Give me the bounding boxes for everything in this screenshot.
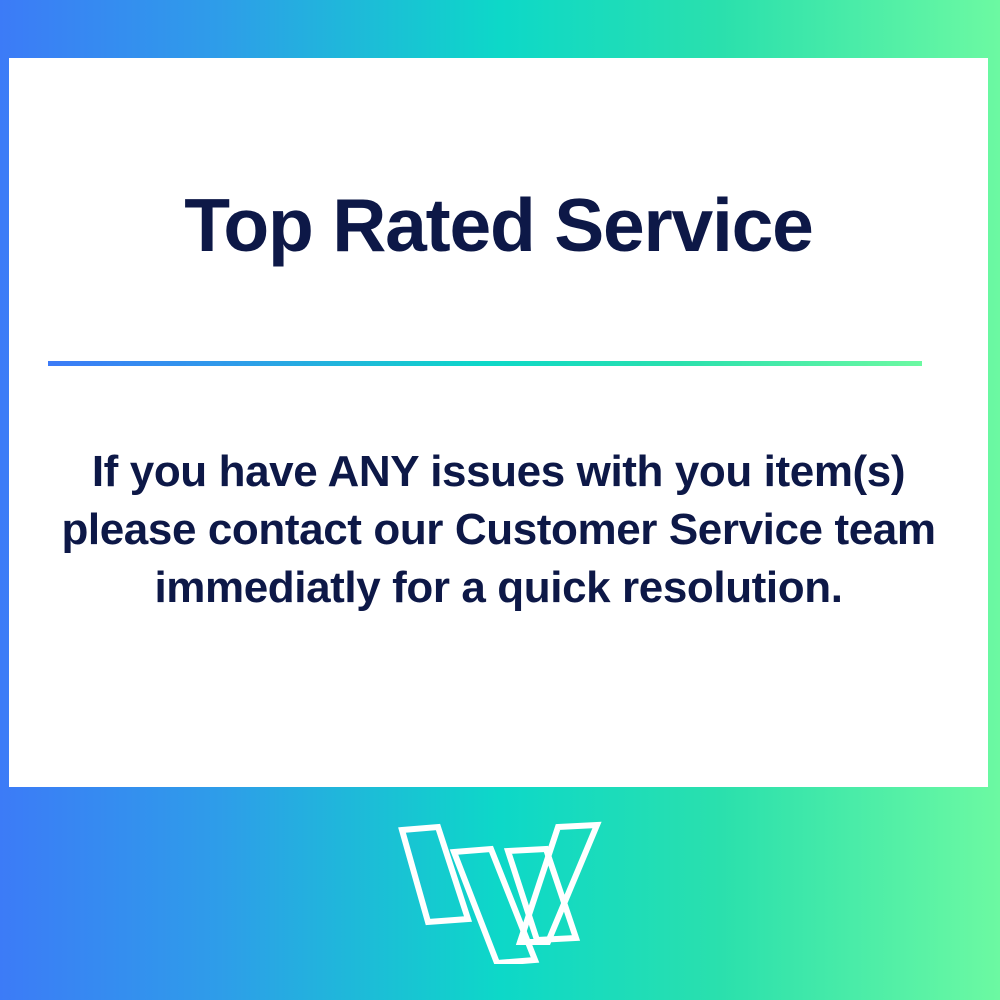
page-title: Top Rated Service xyxy=(9,186,988,266)
body-copy: If you have ANY issues with you item(s) … xyxy=(33,443,964,617)
card-inner: Top Rated Service If you have ANY issues… xyxy=(9,58,988,787)
body-copy-line-2: please contact our Customer Service team xyxy=(33,501,964,559)
content-card: Top Rated Service If you have ANY issues… xyxy=(9,58,988,787)
w-monogram-logo-icon xyxy=(398,818,602,964)
gradient-divider xyxy=(48,361,922,366)
body-copy-line-1: If you have ANY issues with you item(s) xyxy=(33,443,964,501)
body-copy-line-3: immediatly for a quick resolution. xyxy=(33,559,964,617)
promo-banner: Top Rated Service If you have ANY issues… xyxy=(0,0,1000,1000)
